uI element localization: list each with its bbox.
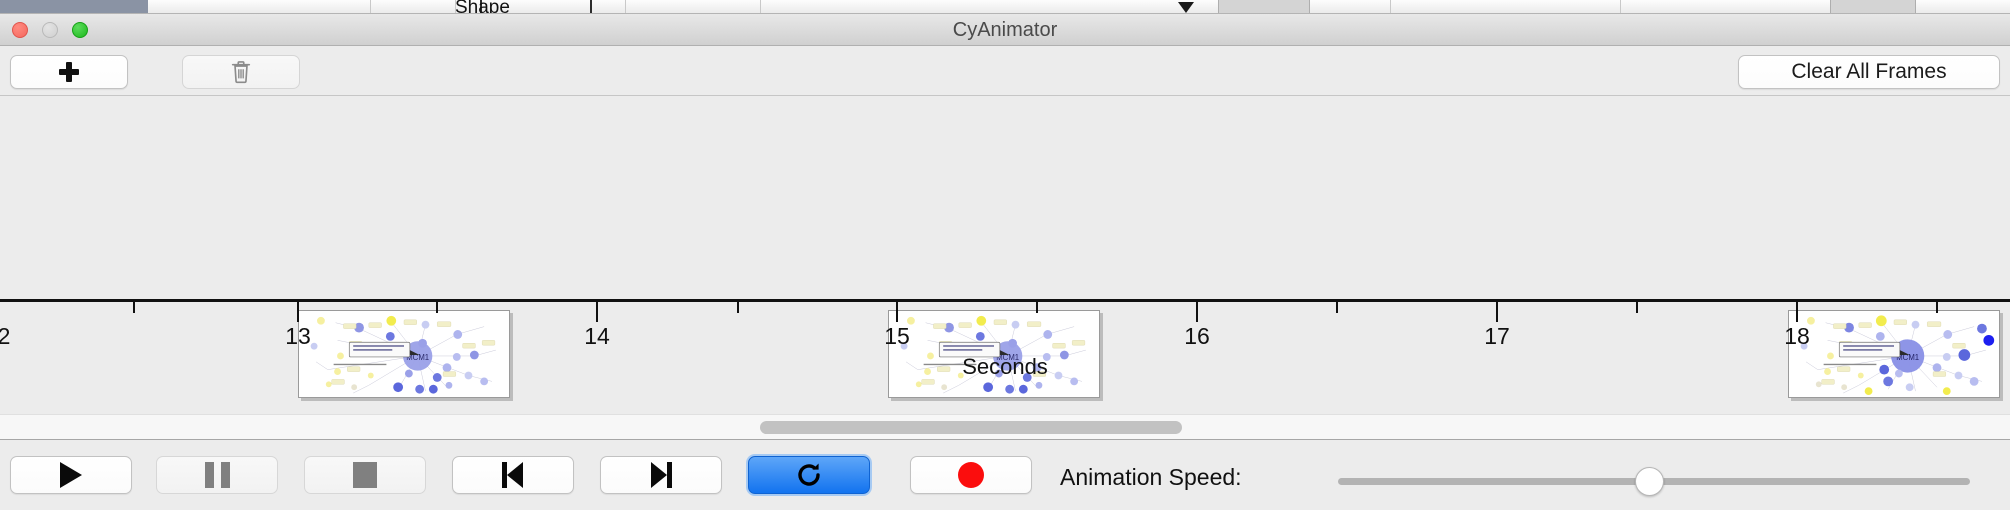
axis-tick-minor xyxy=(133,302,135,313)
background-header-cell xyxy=(1830,0,1916,14)
background-column-divider xyxy=(1620,0,1621,14)
animation-speed-slider-thumb[interactable] xyxy=(1635,467,1664,496)
axis-tick-major xyxy=(596,302,598,322)
axis-tick-label: 13 xyxy=(285,323,311,350)
skip-previous-icon xyxy=(500,462,526,488)
axis-tick-label: 18 xyxy=(1784,323,1810,350)
background-shape-label: Shape xyxy=(455,0,510,14)
background-tick xyxy=(590,0,592,14)
axis-tick-minor xyxy=(737,302,739,313)
skip-previous-button[interactable] xyxy=(452,456,574,494)
titlebar: CyAnimator xyxy=(0,14,2010,46)
axis-tick-major xyxy=(1496,302,1498,322)
timeline-horizontal-scrollbar[interactable] xyxy=(0,414,2010,440)
scrollbar-thumb[interactable] xyxy=(760,421,1182,434)
record-button[interactable] xyxy=(910,456,1032,494)
axis-tick-label: 14 xyxy=(584,323,610,350)
stop-icon xyxy=(353,462,377,488)
axis-tick-minor xyxy=(1336,302,1338,313)
axis-tick-label: 2 xyxy=(0,323,10,350)
pause-icon xyxy=(205,462,230,488)
toolbar: Clear All Frames xyxy=(0,46,2010,96)
background-column-divider xyxy=(625,0,626,14)
axis-tick-minor xyxy=(1936,302,1938,313)
axis-tick-minor xyxy=(1036,302,1038,313)
axis-title: Seconds xyxy=(0,354,2010,380)
background-sort-arrow-icon xyxy=(1178,2,1194,13)
background-column-divider xyxy=(1390,0,1391,14)
background-window-strip: Shape xyxy=(0,0,2010,14)
animation-speed-label: Animation Speed: xyxy=(1060,464,1242,491)
axis-tick-major xyxy=(896,302,898,322)
cyanimator-window: CyAnimator Clear All Frames xyxy=(0,14,2010,510)
trash-icon xyxy=(230,60,252,84)
loop-button[interactable] xyxy=(748,456,870,494)
timeline-axis xyxy=(0,299,2010,302)
axis-tick-major xyxy=(297,302,299,322)
axis-tick-label: 15 xyxy=(884,323,910,350)
axis-tick-major xyxy=(1196,302,1198,322)
clear-all-frames-label: Clear All Frames xyxy=(1791,60,1946,84)
plus-icon xyxy=(59,62,79,82)
background-header-cell xyxy=(1218,0,1310,14)
clear-all-frames-button[interactable]: Clear All Frames xyxy=(1738,55,2000,89)
stop-button[interactable] xyxy=(304,456,426,494)
play-icon xyxy=(60,462,82,488)
add-frame-button[interactable] xyxy=(10,55,128,89)
background-column-divider xyxy=(760,0,761,14)
playback-toolbar: Animation Speed: xyxy=(0,440,2010,508)
window-title: CyAnimator xyxy=(0,19,2010,42)
loop-icon xyxy=(794,460,824,490)
delete-frame-button[interactable] xyxy=(182,55,300,89)
pause-button[interactable] xyxy=(156,456,278,494)
play-button[interactable] xyxy=(10,456,132,494)
background-selected-cell xyxy=(0,0,148,14)
axis-tick-major xyxy=(1796,302,1798,322)
timeline-area[interactable]: MCM1 xyxy=(0,96,2010,414)
record-icon xyxy=(958,462,984,488)
skip-next-icon xyxy=(648,462,674,488)
axis-tick-label: 16 xyxy=(1184,323,1210,350)
axis-tick-label: 17 xyxy=(1484,323,1510,350)
skip-next-button[interactable] xyxy=(600,456,722,494)
axis-tick-minor xyxy=(436,302,438,313)
background-column-divider xyxy=(370,0,371,14)
axis-tick-minor xyxy=(1636,302,1638,313)
